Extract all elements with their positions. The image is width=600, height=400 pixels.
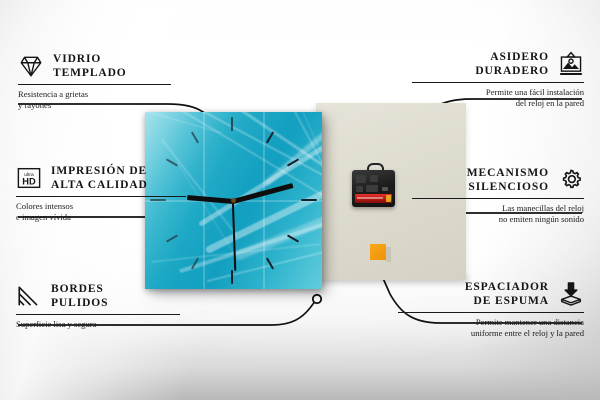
infographic-canvas: VIDRIO TEMPLADO Resistencia a grietas y … [0,0,600,400]
callout-mecanismo-silencioso: MECANISMO SILENCIOSO Las manecillas del … [412,166,584,226]
diamond-icon [18,53,44,79]
callout-rule [412,82,584,83]
foam-spacer-icon [558,281,584,307]
callout-description: Resistencia a grietas y rayones [18,89,178,112]
polished-edges-icon [16,283,42,309]
callout-vidrio-templado: VIDRIO TEMPLADO Resistencia a grietas y … [18,52,178,112]
callout-bordes-pulidos: BORDES PULIDOS Superficie lisa y segura [16,282,188,330]
callout-rule [18,84,171,85]
svg-text:HD: HD [22,177,36,187]
callout-title: VIDRIO TEMPLADO [53,52,127,80]
callout-rule [16,314,180,315]
callout-impresion-alta-calidad: ultra HD IMPRESIÓN DE ALTA CALIDAD Color… [16,164,194,224]
callout-title: ESPACIADOR DE ESPUMA [465,280,549,308]
callout-description: Permite una fácil instalación del reloj … [412,87,584,110]
callout-title: MECANISMO SILENCIOSO [467,166,549,194]
callout-rule [16,196,186,197]
callout-description: Las manecillas del reloj no emiten ningú… [412,203,584,226]
wire-endpoint-bordes [313,295,321,303]
callout-title: ASIDERO DURADERO [475,50,549,78]
callout-description: Colores intensos e imagen vívida [16,201,194,224]
callout-rule [398,312,584,313]
callout-espaciador-de-espuma: ESPACIADOR DE ESPUMA Permite mantener un… [398,280,584,340]
callout-description: Superficie lisa y segura [16,319,188,330]
hanging-picture-icon [558,51,584,77]
callout-description: Permite mantener una distancia uniforme … [398,317,584,340]
ultra-hd-icon: ultra HD [16,165,42,191]
battery-label-band [357,197,383,199]
callout-title: BORDES PULIDOS [51,282,108,310]
clock-center-hub [231,198,236,203]
callout-rule [412,198,584,199]
callout-asidero-duradero: ASIDERO DURADERO Permite una fácil insta… [412,50,584,110]
foam-spacer [370,244,386,260]
gear-icon [558,167,584,193]
callout-title: IMPRESIÓN DE ALTA CALIDAD [51,164,148,192]
foam-spacer-side [386,247,391,262]
battery-positive-terminal [386,195,391,202]
